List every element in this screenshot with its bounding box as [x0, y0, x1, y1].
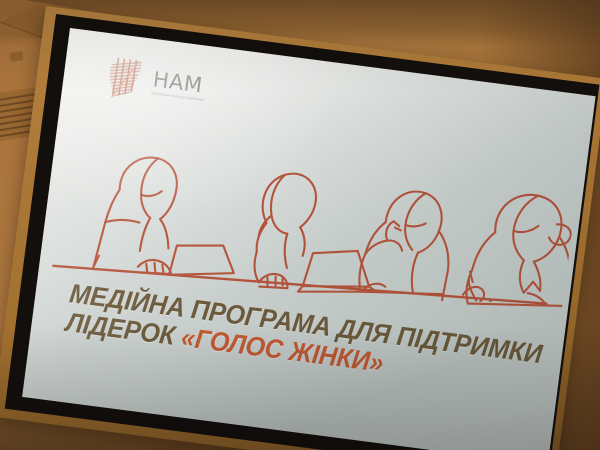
projection-screen-assembly: НАМ НЕЗАЛЕЖНА АСОЦІАЦІЯ МОВНИКІВ [0, 0, 600, 450]
brand-logo: НАМ НЕЗАЛЕЖНА АСОЦІАЦІЯ МОВНИКІВ [103, 55, 208, 110]
photo-scene: НАМ НЕЗАЛЕЖНА АСОЦІАЦІЯ МОВНИКІВ [0, 0, 600, 450]
projection-surface: НАМ НЕЗАЛЕЖНА АСОЦІАЦІЯ МОВНИКІВ [22, 28, 595, 450]
stylized-flag-mark-icon [103, 55, 148, 102]
presentation-slide: НАМ НЕЗАЛЕЖНА АСОЦІАЦІЯ МОВНИКІВ [22, 28, 595, 450]
